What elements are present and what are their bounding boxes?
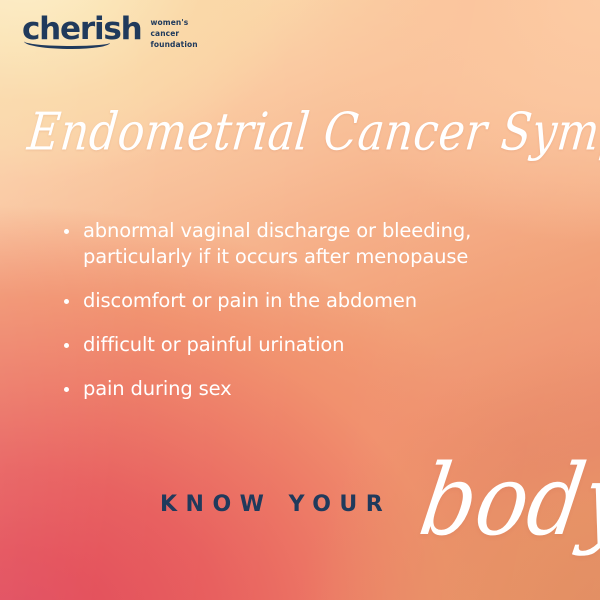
logo-tagline-line-2: cancer xyxy=(151,29,198,40)
page-title: Endometrial Cancer Symptoms xyxy=(28,97,582,169)
bullet-dot-icon xyxy=(64,387,69,392)
list-item: abnormal vaginal discharge or bleeding, … xyxy=(62,218,570,270)
list-item-label: discomfort or pain in the abdomen xyxy=(83,289,417,312)
footer-tagline: KNOW YOUR body xyxy=(0,446,600,556)
symptom-list: abnormal vaginal discharge or bleeding, … xyxy=(62,218,570,402)
logo-tagline-line-3: foundation xyxy=(151,40,198,51)
list-item-label: difficult or painful urination xyxy=(83,333,344,356)
list-item: difficult or painful urination xyxy=(62,332,570,358)
poster-canvas: cherish women's cancer foundation Endome… xyxy=(0,0,600,600)
underline-swoosh-icon xyxy=(24,35,110,49)
list-item-label: pain during sex xyxy=(83,377,232,400)
list-item-label: abnormal vaginal discharge or bleeding, … xyxy=(83,219,471,268)
list-item: discomfort or pain in the abdomen xyxy=(62,288,570,314)
bullet-dot-icon xyxy=(64,299,69,304)
logo-tagline-line-1: women's xyxy=(151,18,198,29)
page-title-text: Endometrial Cancer Symptoms xyxy=(25,107,600,159)
list-item: pain during sex xyxy=(62,376,570,402)
logo-tagline: women's cancer foundation xyxy=(151,18,198,51)
bullet-dot-icon xyxy=(64,343,69,348)
cherish-logo: cherish women's cancer foundation xyxy=(22,14,198,51)
footer-tagline-caps: KNOW YOUR xyxy=(160,494,391,516)
logo-wordmark: cherish xyxy=(22,14,142,48)
footer-tagline-script: body xyxy=(414,452,600,550)
bullet-dot-icon xyxy=(64,229,69,234)
